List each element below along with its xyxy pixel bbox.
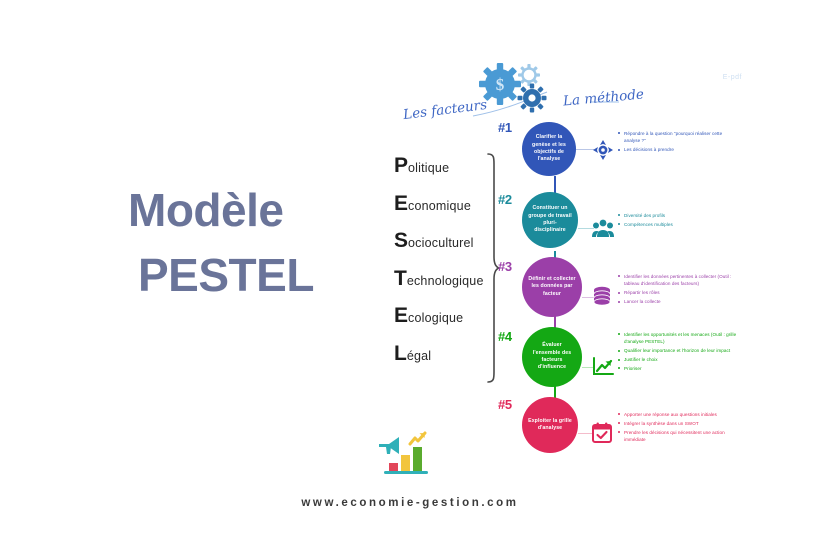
pestel-letter: E: [394, 305, 408, 326]
step-title-circle: Définir et collecter les données par fac…: [522, 257, 582, 317]
site-url: www.economie-gestion.com: [0, 497, 820, 509]
page-title: Modèle PESTEL: [128, 178, 378, 309]
bullet: Répartir les rôles: [618, 289, 740, 296]
step-number: #1: [498, 120, 512, 135]
step-bullets: Identifier les données pertinentes à col…: [618, 273, 740, 307]
bullet: Lancer la collecte: [618, 298, 740, 305]
pestel-word: égal: [407, 349, 431, 363]
title-line-1: Modèle: [128, 178, 378, 243]
bullet: Prioriser: [618, 365, 740, 372]
list-item: P olitique: [394, 155, 494, 193]
header-zone: $: [395, 62, 725, 124]
step-title-circle: Clarifier la genèse et les objectifs de …: [522, 122, 576, 176]
pestel-word: olitique: [408, 161, 449, 175]
bullet: Les décisions à prendre: [618, 146, 736, 153]
bar-chart-megaphone-logo: [377, 430, 443, 483]
database-icon: [592, 286, 612, 308]
method-steps: #1 Clarifier la genèse et les objectifs …: [498, 118, 748, 428]
pestel-factor-list: P olitique E conomique S ocioculturel T …: [394, 155, 494, 380]
bullet: Qualifier leur importance et l'horizon d…: [618, 347, 740, 354]
step-number: #2: [498, 192, 512, 207]
list-item: S ocioculturel: [394, 230, 494, 268]
step-title-circle: Évaluer l'ensemble des facteurs d'influe…: [522, 327, 582, 387]
footer: www.economie-gestion.com: [0, 430, 820, 509]
pestel-word: echnologique: [407, 274, 484, 288]
step-bullets: Diversité des profils Compétences multip…: [618, 212, 736, 230]
list-item: L égal: [394, 343, 494, 381]
title-line-2: PESTEL: [128, 243, 378, 308]
gears-icon: $: [455, 58, 585, 125]
svg-text:$: $: [496, 75, 505, 94]
pestel-letter: P: [394, 155, 408, 176]
bullet: Justifier le choix: [618, 356, 740, 363]
bullet: Apporter une réponse aux questions initi…: [618, 411, 740, 418]
bullet: Identifier les données pertinentes à col…: [618, 273, 740, 288]
step-number: #4: [498, 329, 512, 344]
pestel-letter: L: [394, 343, 407, 364]
pestel-letter: S: [394, 230, 408, 251]
bullet: Diversité des profils: [618, 212, 736, 219]
bullet: Identifier les opportunités et les menac…: [618, 331, 740, 346]
step-number: #5: [498, 397, 512, 412]
pestel-infographic-page: Modèle PESTEL: [0, 0, 820, 547]
step-number: #3: [498, 259, 512, 274]
step-bullets: Identifier les opportunités et les menac…: [618, 331, 740, 374]
pestel-word: cologique: [408, 311, 463, 325]
bullet: Répondre à la question "pourquoi réalise…: [618, 130, 736, 145]
bullet: Compétences multiples: [618, 221, 736, 228]
list-item: T echnologique: [394, 268, 494, 306]
people-group-icon: [592, 218, 614, 238]
pestel-letter: T: [394, 268, 407, 289]
pestel-word: conomique: [408, 199, 471, 213]
list-item: E conomique: [394, 193, 494, 231]
pestel-word: ocioculturel: [408, 236, 474, 250]
growth-chart-icon: [592, 357, 614, 377]
corner-watermark: E-pdf: [723, 74, 742, 81]
step-bullets: Répondre à la question "pourquoi réalise…: [618, 130, 736, 155]
list-item: E cologique: [394, 305, 494, 343]
step-spine: [554, 176, 556, 194]
target-compass-icon: [592, 139, 614, 161]
pestel-letter: E: [394, 193, 408, 214]
step-title-circle: Constituer un groupe de travail pluri-di…: [522, 192, 578, 248]
bullet: Intégrer la synthèse dans un SWOT: [618, 420, 740, 427]
